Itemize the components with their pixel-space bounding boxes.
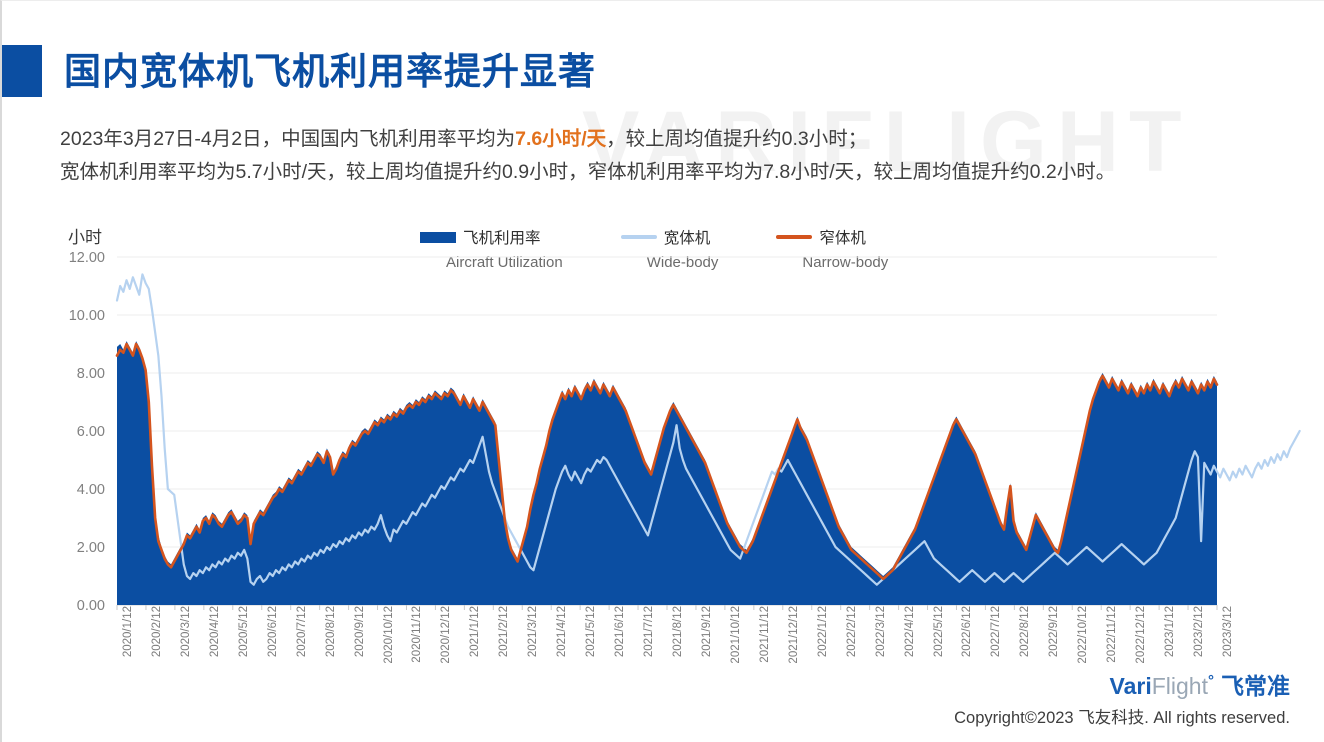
x-axis-tick-label: 2021/11/12 — [759, 606, 771, 663]
y-axis-tick-label: 8.00 — [77, 366, 105, 382]
subtitle-line-1: 2023年3月27日-4月2日，中国国内飞机利用率平均为7.6小时/天，较上周均… — [60, 123, 1290, 156]
x-axis-tick-label: 2022/2/12 — [846, 606, 858, 657]
x-axis-tick-label: 2020/5/12 — [238, 606, 250, 657]
logo-flight: Flight — [1152, 673, 1208, 699]
title-text: 国内宽体机飞机利用率提升显著 — [64, 53, 596, 90]
x-axis-tick-label: 2020/1/12 — [122, 606, 134, 657]
x-axis-tick-label: 2021/12/12 — [788, 606, 800, 664]
y-axis-tick-label: 10.00 — [69, 308, 105, 324]
subtitle-line1-part-a: 2023年3月27日-4月2日，中国国内飞机利用率平均为 — [60, 128, 515, 150]
y-axis-tick-label: 2.00 — [77, 540, 105, 556]
x-axis-tick-label: 2022/3/12 — [875, 606, 887, 657]
x-axis-tick-label: 2023/3/12 — [1222, 606, 1234, 657]
x-axis-tick-label: 2020/3/12 — [180, 606, 192, 657]
x-axis-tick-label: 2021/6/12 — [614, 606, 626, 657]
logo-vari: Vari — [1110, 673, 1152, 699]
x-axis-tick-label: 2022/1/12 — [817, 606, 829, 657]
copyright-text: Copyright©2023 飞友科技. All rights reserved… — [954, 704, 1290, 728]
x-axis-tick-label: 2021/1/12 — [469, 606, 481, 657]
x-axis-tick-label: 2021/9/12 — [701, 606, 713, 657]
x-axis-tick-label: 2020/8/12 — [325, 606, 337, 657]
x-axis-tick-label: 2021/7/12 — [643, 606, 655, 657]
x-axis-tick-label: 2020/7/12 — [296, 606, 308, 657]
x-axis-tick-label: 2022/9/12 — [1048, 606, 1060, 657]
y-axis-tick-label: 12.00 — [69, 250, 105, 266]
x-axis-tick-label: 2021/4/12 — [556, 606, 568, 657]
x-axis-tick-label: 2020/10/12 — [383, 606, 395, 664]
subtitle: 2023年3月27日-4月2日，中国国内飞机利用率平均为7.6小时/天，较上周均… — [60, 123, 1290, 189]
x-axis-tick-label: 2020/12/12 — [440, 606, 452, 664]
logo-degree: ° — [1208, 672, 1214, 689]
x-axis-tick-label: 2022/7/12 — [990, 606, 1002, 657]
series-area-aircraft-utilization — [117, 341, 1217, 605]
y-axis-tick-label: 6.00 — [77, 424, 105, 440]
x-axis-tick-label: 2022/5/12 — [933, 606, 945, 657]
x-axis-tick-label: 2022/12/12 — [1135, 606, 1147, 664]
x-axis-tick-label: 2021/5/12 — [585, 606, 597, 657]
page-title: 国内宽体机飞机利用率提升显著 — [2, 45, 596, 97]
utilization-chart: 小时 飞机利用率Aircraft Utilization宽体机Wide-body… — [2, 223, 1324, 683]
logo-chinese: 飞常准 — [1221, 673, 1290, 699]
subtitle-line1-part-b: ，较上周均值提升约0.3小时； — [606, 128, 867, 150]
x-axis-tick-label: 2021/2/12 — [498, 606, 510, 657]
x-axis-tick-label: 2023/1/12 — [1164, 606, 1176, 657]
x-axis-tick-label: 2022/10/12 — [1077, 606, 1089, 664]
x-axis-tick-label: 2021/3/12 — [527, 606, 539, 657]
subtitle-line-2: 宽体机利用率平均为5.7小时/天，较上周均值提升约0.9小时，窄体机利用率平均为… — [60, 156, 1290, 189]
slide-root: VARIFLIGHT 国内宽体机飞机利用率提升显著 2023年3月27日-4月2… — [0, 0, 1324, 742]
x-axis-tick-label: 2020/6/12 — [267, 606, 279, 657]
x-axis-tick-label: 2022/6/12 — [961, 606, 973, 657]
x-axis-tick-label: 2021/10/12 — [730, 606, 742, 664]
x-axis-tick-label: 2023/2/12 — [1193, 606, 1205, 657]
subtitle-highlight-value: 7.6小时/天 — [515, 128, 606, 150]
x-axis-tick-label: 2020/4/12 — [209, 606, 221, 657]
title-accent-bar — [2, 45, 42, 97]
x-axis-tick-label: 2021/8/12 — [672, 606, 684, 657]
x-axis-tick-label: 2020/9/12 — [354, 606, 366, 657]
y-axis-tick-label: 4.00 — [77, 482, 105, 498]
x-axis-tick-label: 2022/11/12 — [1106, 606, 1118, 663]
x-axis-tick-label: 2022/4/12 — [904, 606, 916, 657]
x-axis-tick-label: 2022/8/12 — [1019, 606, 1031, 657]
x-axis-tick-label: 2020/2/12 — [151, 606, 163, 657]
footer: VariFlight°飞常准 Copyright©2023 飞友科技. All … — [954, 667, 1290, 728]
x-axis-tick-label: 2020/11/12 — [411, 606, 423, 663]
variflight-logo: VariFlight°飞常准 — [954, 667, 1290, 701]
